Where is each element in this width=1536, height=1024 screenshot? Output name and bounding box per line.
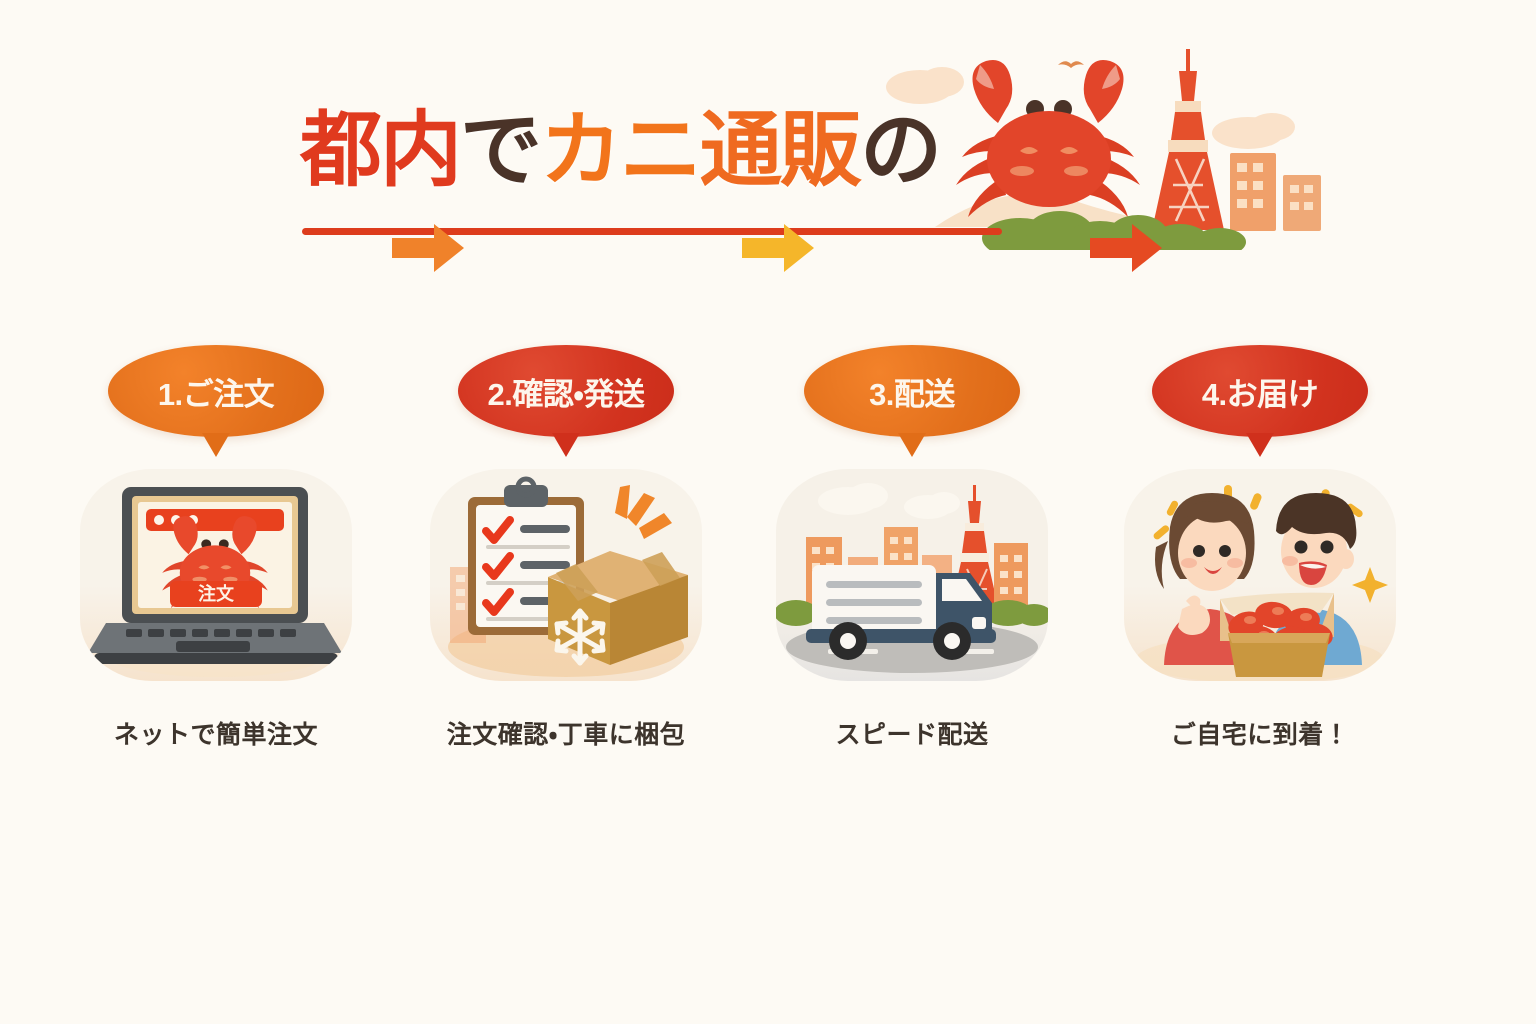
step-4-illustration bbox=[1124, 469, 1396, 681]
step-4-badge-label: 4.お届け bbox=[1202, 369, 1318, 414]
tokyo-tower-icon bbox=[1152, 49, 1224, 230]
title-part-5: の bbox=[860, 105, 940, 196]
step-4-caption: ご自宅に到着！ bbox=[1110, 715, 1410, 751]
buildings-icon bbox=[1230, 153, 1321, 231]
arrow-step2-to-step3 bbox=[742, 222, 814, 274]
step-2-caption: 注文確認・丁車に梱包 bbox=[416, 715, 716, 751]
title-part-3: カニ bbox=[540, 105, 700, 196]
page-title: 都内でカニ通販の bbox=[300, 108, 1020, 238]
arrow-step3-to-step4 bbox=[1090, 222, 1162, 274]
open-box-icon bbox=[1220, 593, 1336, 677]
step-2-badge-label: 2.確認・発送 bbox=[488, 369, 645, 414]
step-1-badge[interactable]: 1.ご注文 bbox=[108, 345, 324, 437]
step-1: 1.ご注文 bbox=[66, 345, 366, 765]
step-3-caption: スピード配送 bbox=[762, 715, 1062, 751]
order-button-label: 注文 bbox=[198, 583, 235, 604]
step-3-badge-label: 3.配送 bbox=[869, 369, 955, 414]
step-1-badge-label: 1.ご注文 bbox=[158, 369, 274, 414]
title-part-4: 通販 bbox=[700, 105, 860, 196]
laptop-icon: 注文 bbox=[88, 487, 342, 664]
step-3: 3.配送 bbox=[762, 345, 1062, 765]
arrow-step1-to-step2 bbox=[392, 222, 464, 274]
step-2: 2.確認・発送 bbox=[416, 345, 716, 765]
step-2-badge[interactable]: 2.確認・発送 bbox=[458, 345, 674, 437]
browser-bar bbox=[146, 509, 284, 531]
title-part-1: 都内 bbox=[300, 105, 460, 196]
infographic-canvas: 都内でカニ通販の 1.ご注文 bbox=[0, 0, 1536, 1024]
title-part-2: で bbox=[460, 105, 540, 196]
step-4-badge[interactable]: 4.お届け bbox=[1152, 345, 1368, 437]
step-1-illustration: 注文 bbox=[80, 469, 352, 681]
bird-icon bbox=[1058, 61, 1084, 68]
step-3-badge[interactable]: 3.配送 bbox=[804, 345, 1020, 437]
step-1-caption: ネットで簡単注文 bbox=[66, 715, 366, 751]
starburst-icon bbox=[615, 485, 672, 539]
steps-row: 1.ご注文 bbox=[0, 345, 1536, 765]
step-4: 4.お届け bbox=[1110, 345, 1410, 765]
step-2-illustration bbox=[430, 469, 702, 681]
step-3-illustration bbox=[776, 469, 1048, 681]
cloud-icon bbox=[818, 483, 960, 519]
